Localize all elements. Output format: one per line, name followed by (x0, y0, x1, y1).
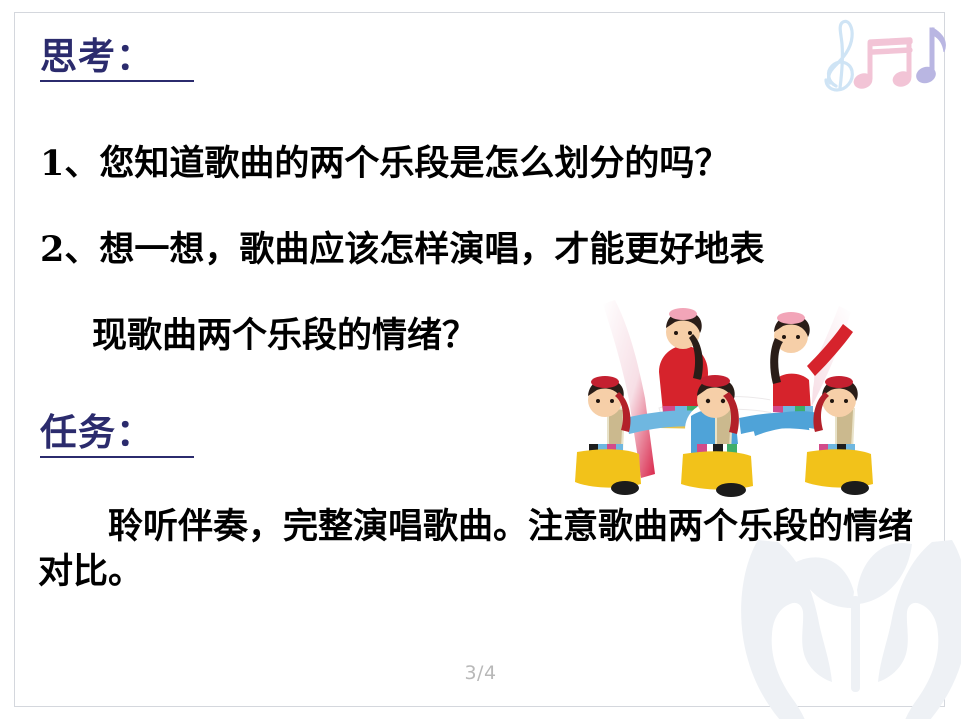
eighth-note-icon (915, 28, 946, 85)
heading-think-label: 思考： (40, 38, 194, 82)
slide-border (14, 12, 945, 707)
heading-task-label: 任务： (40, 414, 194, 458)
task-paragraph: 聆听伴奏，完整演唱歌曲。注意歌曲两个乐段的情绪对比。 (38, 505, 928, 595)
question-line-1: 1、您知道歌曲的两个乐段是怎么划分的吗？ (40, 146, 729, 181)
slide-canvas: 思考： 1、您知道歌曲的两个乐段是怎么划分的吗？ 2、想一想，歌曲应该怎样演唱，… (0, 0, 961, 719)
page-number-indicator: 3/4 (0, 662, 961, 684)
tibetan-children-dancers-photo (563, 288, 883, 513)
question-line-2: 2、想一想，歌曲应该怎样演唱，才能更好地表 (40, 232, 764, 267)
question-line-3: 现歌曲两个乐段的情绪？ (92, 318, 477, 353)
heading-task: 任务： (40, 414, 194, 458)
question-line-3-text: 现歌曲两个乐段的情绪？ (92, 315, 477, 356)
beamed-eighth-notes-icon (852, 38, 912, 91)
question-line-1-text: 1、您知道歌曲的两个乐段是怎么划分的吗？ (40, 143, 729, 184)
question-line-2-text: 2、想一想，歌曲应该怎样演唱，才能更好地表 (40, 229, 764, 270)
music-notes-decoration (812, 16, 950, 98)
heading-think: 思考： (40, 38, 194, 82)
treble-clef-icon (826, 21, 852, 90)
